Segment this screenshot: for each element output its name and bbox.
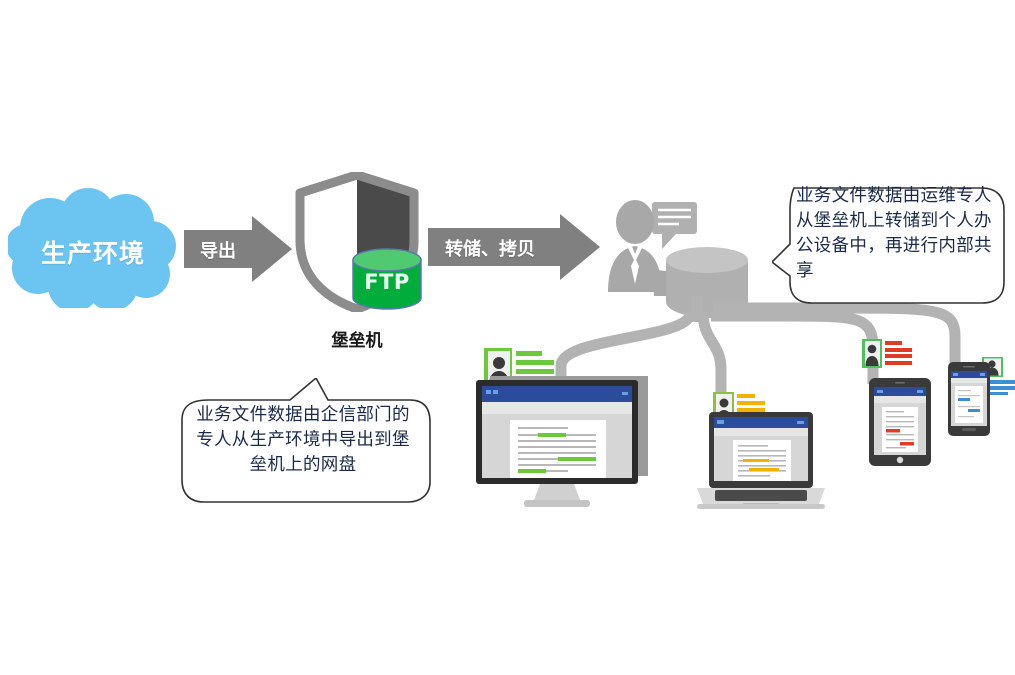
arrow-transfer-copy-label: 转储、拷贝 [445,235,535,261]
callout-left: 业务文件数据由企信部门的专人从生产环境中导出到堡垒机上的网盘 [168,378,436,506]
arrow-export-label: 导出 [200,237,236,263]
callout-left-text: 业务文件数据由企信部门的专人从生产环境中导出到堡垒机上的网盘 [194,403,412,478]
laptop-device [697,412,825,509]
smartphone-icon [948,362,990,436]
production-environment-node: 生产环境 [8,188,178,308]
user-card-tablet [862,339,912,368]
callout-right-text: 业务文件数据由运维专人从堡垒机上转储到个人办公设备中，再进行内部共享 [796,184,992,284]
cloud-label: 生产环境 [8,234,178,270]
laptop-icon [697,412,825,509]
callout-right: 业务文件数据由运维专人从堡垒机上转储到个人办公设备中，再进行内部共享 [772,166,1010,308]
ftp-label: FTP [352,270,422,294]
tablet-device [869,378,931,466]
arrow-transfer-copy: 转储、拷贝 [428,214,600,280]
desktop-monitor-icon [476,376,648,508]
diagram-canvas: 生产环境 导出 FTP 堡垒机 转储、拷贝 [0,0,1015,675]
bastion-host-label: 堡垒机 [293,326,421,351]
user-card-icon [862,339,912,368]
smartphone-device [948,362,990,436]
ftp-storage-node: FTP [352,248,422,310]
desktop-monitor-device [476,376,648,508]
arrow-export: 导出 [184,216,292,282]
tablet-icon [869,378,931,466]
